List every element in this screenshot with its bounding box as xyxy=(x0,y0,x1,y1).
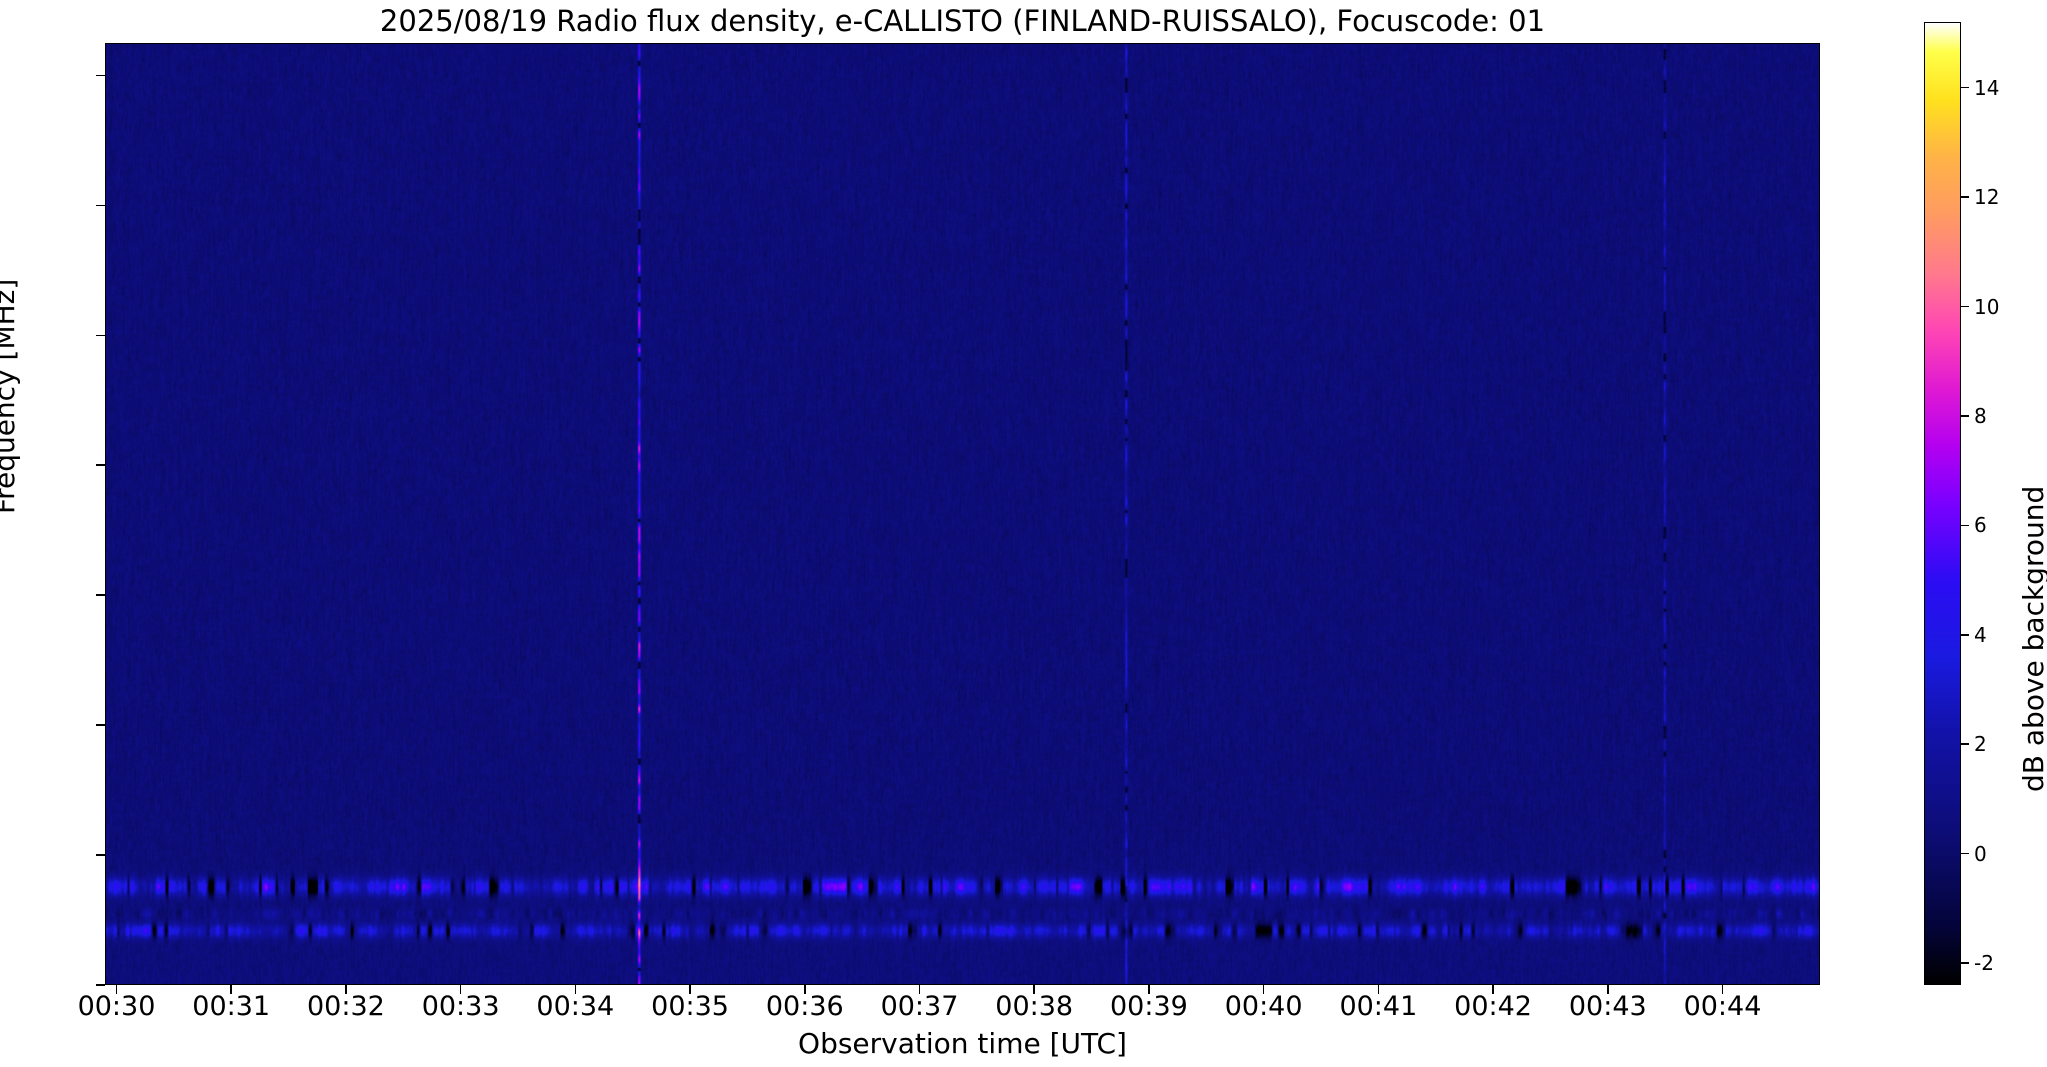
y-tick-mark xyxy=(96,205,105,207)
colorbar-tick-mark xyxy=(1961,962,1969,964)
colorbar: 14121086420-2 xyxy=(1924,22,1961,985)
x-tick-label: 00:44 xyxy=(1684,991,1762,1022)
y-axis-label: Frequency [MHz] xyxy=(0,279,21,514)
x-tick-label: 00:38 xyxy=(995,991,1073,1022)
x-tick-label: 00:32 xyxy=(307,991,385,1022)
x-tick-label: 00:35 xyxy=(651,991,729,1022)
y-tick-mark xyxy=(96,854,105,856)
colorbar-gradient xyxy=(1924,22,1961,985)
x-tick-label: 00:36 xyxy=(766,991,844,1022)
x-tick-label: 00:41 xyxy=(1339,991,1417,1022)
spectrogram-figure: 2025/08/19 Radio flux density, e-CALLIST… xyxy=(0,0,2047,1067)
colorbar-tick-mark xyxy=(1961,743,1969,745)
x-tick-label: 00:43 xyxy=(1569,991,1647,1022)
colorbar-tick-mark xyxy=(1961,853,1969,855)
colorbar-tick-label: 4 xyxy=(1974,623,1987,647)
spectrogram-plot-area xyxy=(105,43,1820,985)
x-tick-label: 00:30 xyxy=(78,991,156,1022)
x-tick-label: 00:39 xyxy=(1110,991,1188,1022)
colorbar-tick-mark xyxy=(1961,415,1969,417)
x-tick-label: 00:31 xyxy=(192,991,270,1022)
y-tick-mark xyxy=(96,335,105,337)
y-tick-mark xyxy=(96,594,105,596)
colorbar-tick-label: 6 xyxy=(1974,513,1987,537)
colorbar-tick-mark xyxy=(1961,525,1969,527)
y-tick-mark xyxy=(96,75,105,77)
colorbar-tick-label: -2 xyxy=(1974,951,1994,975)
colorbar-tick-label: 8 xyxy=(1974,404,1987,428)
y-tick-mark xyxy=(96,984,105,986)
colorbar-tick-label: 12 xyxy=(1974,185,1999,209)
colorbar-tick-mark xyxy=(1961,306,1969,308)
colorbar-tick-label: 2 xyxy=(1974,732,1987,756)
x-tick-label: 00:40 xyxy=(1225,991,1303,1022)
y-tick-mark xyxy=(96,464,105,466)
colorbar-label: dB above background xyxy=(2017,486,2047,792)
y-tick-mark xyxy=(96,724,105,726)
x-tick-label: 00:37 xyxy=(881,991,959,1022)
chart-title: 2025/08/19 Radio flux density, e-CALLIST… xyxy=(105,4,1820,38)
colorbar-tick-mark xyxy=(1961,87,1969,89)
spectrogram-image xyxy=(106,44,1819,984)
colorbar-tick-mark xyxy=(1961,634,1969,636)
x-axis-label: Observation time [UTC] xyxy=(105,1027,1820,1060)
x-tick-label: 00:33 xyxy=(422,991,500,1022)
colorbar-tick-mark xyxy=(1961,196,1969,198)
x-tick-label: 00:34 xyxy=(536,991,614,1022)
colorbar-tick-label: 0 xyxy=(1974,842,1987,866)
colorbar-tick-label: 10 xyxy=(1974,295,1999,319)
colorbar-tick-label: 14 xyxy=(1974,76,1999,100)
x-tick-label: 00:42 xyxy=(1454,991,1532,1022)
